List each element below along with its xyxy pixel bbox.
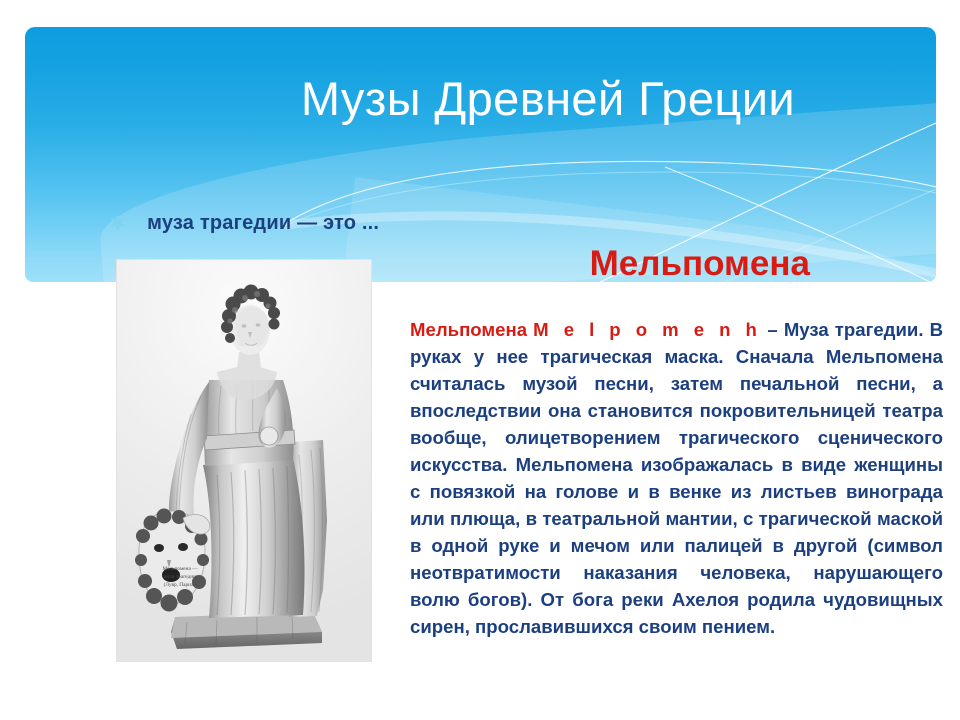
statue-image-frame: Мельпомена — муза трагедии (Лувр, Париж) bbox=[116, 259, 372, 662]
body-name-latin: M e l p o m e n h bbox=[533, 319, 761, 340]
section-heading-melpomene: Мельпомена bbox=[420, 246, 810, 281]
slide-root: Музы Древней Греции ✱ муза трагедии — эт… bbox=[0, 0, 960, 720]
asterisk-bullet-icon: ✱ bbox=[110, 214, 125, 232]
body-name-ru: Мельпомена bbox=[410, 319, 527, 340]
photo-caption-line-3: (Лувр, Париж) bbox=[137, 581, 223, 589]
photo-caption: Мельпомена — муза трагедии (Лувр, Париж) bbox=[137, 565, 223, 590]
bullet-text: муза трагедии — это ... bbox=[147, 212, 379, 235]
page-title: Музы Древней Греции bbox=[55, 74, 795, 123]
body-paragraph: Мельпомена M e l p o m e n h – Муза траг… bbox=[410, 316, 943, 641]
body-rest: – Муза трагедии. В руках у нее трагическ… bbox=[410, 319, 943, 638]
photo-caption-line-2: муза трагедии bbox=[137, 573, 223, 581]
bullet-line: ✱ муза трагедии — это ... bbox=[110, 212, 379, 235]
photo-caption-line-1: Мельпомена — bbox=[137, 565, 223, 573]
statue-of-melpomene-illustration bbox=[117, 260, 371, 661]
